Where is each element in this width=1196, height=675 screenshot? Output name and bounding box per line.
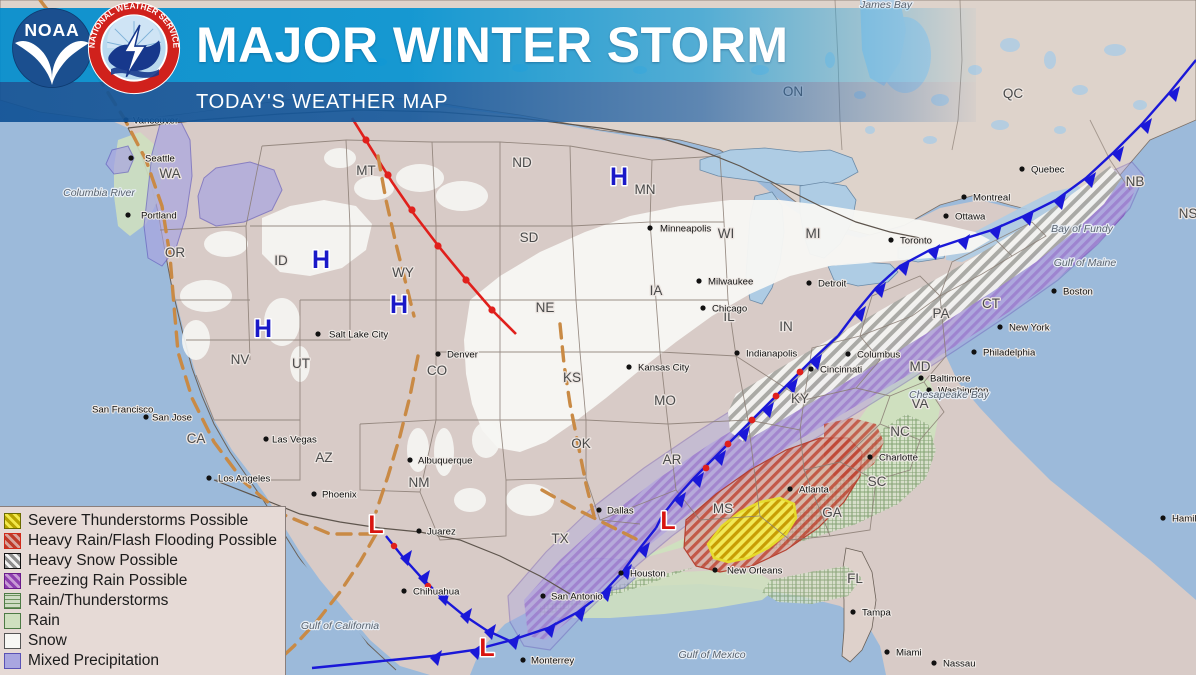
city-label: Toronto xyxy=(900,236,932,247)
legend-swatch xyxy=(4,653,21,669)
state-label: FL xyxy=(847,571,863,586)
city-label: New Orleans xyxy=(727,566,783,577)
state-label: AR xyxy=(663,452,682,467)
legend-swatch xyxy=(4,513,21,529)
city-label: Atlanta xyxy=(799,485,830,496)
legend-swatch xyxy=(4,573,21,589)
state-label: KS xyxy=(563,370,581,385)
city-label: Philadelphia xyxy=(983,348,1036,359)
city-label: Dallas xyxy=(607,506,634,517)
svg-text:NOAA: NOAA xyxy=(24,20,79,40)
low-pressure-marker: L xyxy=(479,634,494,662)
state-label: TX xyxy=(551,531,568,546)
state-label: UT xyxy=(292,356,310,371)
state-label: WY xyxy=(392,265,414,280)
city-label: Indianapolis xyxy=(746,349,797,360)
city-label: Montreal xyxy=(973,193,1010,204)
city-label: Hamilton xyxy=(1172,514,1196,525)
city-label: San Francisco xyxy=(92,405,153,416)
city-label: San Jose xyxy=(152,413,192,424)
state-label: PA xyxy=(932,306,949,321)
state-label: ID xyxy=(274,253,288,268)
city-label: Milwaukee xyxy=(708,277,753,288)
state-label: WI xyxy=(718,226,735,241)
legend-row: Freezing Rain Possible xyxy=(4,571,277,591)
high-pressure-marker: H xyxy=(254,315,272,343)
state-label: NM xyxy=(409,475,430,490)
state-label: IA xyxy=(650,283,663,298)
map-legend: Severe Thunderstorms PossibleHeavy Rain/… xyxy=(0,506,286,675)
legend-row: Rain xyxy=(4,611,277,631)
weather-map-screenshot: WAORCANVIDUTAZMTWYCONMNDSDNEKSOKTXMNIAMO… xyxy=(0,0,1196,675)
legend-label: Rain xyxy=(28,613,60,629)
water-label: Gulf of California xyxy=(301,620,379,632)
city-label: San Antonio xyxy=(551,592,603,603)
water-label: James Bay xyxy=(859,0,913,11)
city-label: Columbus xyxy=(857,350,900,361)
state-label: OR xyxy=(165,245,186,260)
state-label: NB xyxy=(1126,174,1145,189)
high-pressure-marker: H xyxy=(390,291,408,319)
legend-swatch xyxy=(4,633,21,649)
legend-swatch xyxy=(4,553,21,569)
legend-row: Snow xyxy=(4,631,277,651)
legend-row: Heavy Rain/Flash Flooding Possible xyxy=(4,531,277,551)
city-label: Las Vegas xyxy=(272,435,317,446)
city-label: Portland xyxy=(141,211,177,222)
city-label: Los Angeles xyxy=(218,474,270,485)
water-label: Gulf of Maine xyxy=(1054,257,1117,269)
state-label: MS xyxy=(713,501,733,516)
state-label: SC xyxy=(868,474,887,489)
city-label: New York xyxy=(1009,323,1050,334)
state-label: CT xyxy=(982,296,1000,311)
water-label: Bay of Fundy xyxy=(1051,223,1114,235)
state-label: NE xyxy=(536,300,555,315)
city-label: Vancouver xyxy=(133,116,179,127)
city-label: Nassau xyxy=(943,659,976,670)
state-label: MN xyxy=(635,182,656,197)
legend-swatch xyxy=(4,593,21,609)
legend-label: Freezing Rain Possible xyxy=(28,573,187,589)
legend-swatch xyxy=(4,613,21,629)
city-label: Baltimore xyxy=(930,374,971,385)
state-label: IN xyxy=(779,319,793,334)
low-pressure-marker: L xyxy=(660,507,675,535)
state-label: MI xyxy=(806,226,821,241)
state-label: WA xyxy=(159,166,180,181)
state-label: MD xyxy=(910,359,931,374)
city-label: Tampa xyxy=(862,608,891,619)
noaa-logo[interactable]: NOAA xyxy=(10,6,94,90)
city-label: Salt Lake City xyxy=(329,330,388,341)
legend-label: Heavy Rain/Flash Flooding Possible xyxy=(28,533,277,549)
legend-row: Rain/Thunderstorms xyxy=(4,591,277,611)
water-label: Columbia River xyxy=(63,187,135,199)
city-label: Denver xyxy=(447,350,479,361)
state-label: AZ xyxy=(315,450,332,465)
city-label: Quebec xyxy=(1031,165,1065,176)
nws-logo[interactable]: NATIONAL WEATHER SERVICE xyxy=(86,0,182,96)
state-label: MT xyxy=(356,163,376,178)
state-label: NV xyxy=(231,352,250,367)
city-label: Miami xyxy=(896,648,922,659)
legend-label: Severe Thunderstorms Possible xyxy=(28,513,248,529)
legend-label: Rain/Thunderstorms xyxy=(28,593,168,609)
legend-row: Heavy Snow Possible xyxy=(4,551,277,571)
city-label: Phoenix xyxy=(322,490,357,501)
state-label: GA xyxy=(822,505,842,520)
legend-label: Mixed Precipitation xyxy=(28,653,159,669)
city-label: Ottawa xyxy=(955,212,986,223)
city-label: Juarez xyxy=(427,527,456,538)
legend-row: Severe Thunderstorms Possible xyxy=(4,511,277,531)
city-label: Detroit xyxy=(818,279,847,290)
city-label: Boston xyxy=(1063,287,1093,298)
state-label: MO xyxy=(654,393,676,408)
state-label: CA xyxy=(187,431,206,446)
legend-label: Heavy Snow Possible xyxy=(28,553,178,569)
state-label: ND xyxy=(512,155,532,170)
high-pressure-marker: H xyxy=(312,246,330,274)
city-label: Chicago xyxy=(712,304,747,315)
state-label: CO xyxy=(427,363,447,378)
water-label: Gulf of Mexico xyxy=(678,649,745,661)
city-label: Monterrey xyxy=(531,656,574,667)
high-pressure-marker: H xyxy=(610,163,628,191)
city-label: Kansas City xyxy=(638,363,689,374)
state-label: OK xyxy=(571,436,591,451)
low-pressure-marker: L xyxy=(368,511,383,539)
legend-swatch xyxy=(4,533,21,549)
legend-label: Snow xyxy=(28,633,67,649)
water-label: Chesapeake Bay xyxy=(909,389,990,401)
legend-row: Mixed Precipitation xyxy=(4,651,277,671)
city-label: Houston xyxy=(630,569,666,580)
state-label: NS xyxy=(1179,206,1196,221)
state-label: QC xyxy=(1003,86,1024,101)
city-label: Cincinnati xyxy=(820,365,862,376)
city-label: Seattle xyxy=(145,154,175,165)
city-label: Albuquerque xyxy=(418,456,472,467)
state-label: ON xyxy=(783,84,803,99)
city-label: Minneapolis xyxy=(660,224,711,235)
state-label: SD xyxy=(520,230,539,245)
state-label: KY xyxy=(791,391,809,406)
state-label: NC xyxy=(890,424,910,439)
city-label: Charlotte xyxy=(879,453,918,464)
city-label: Chihuahua xyxy=(413,587,460,598)
